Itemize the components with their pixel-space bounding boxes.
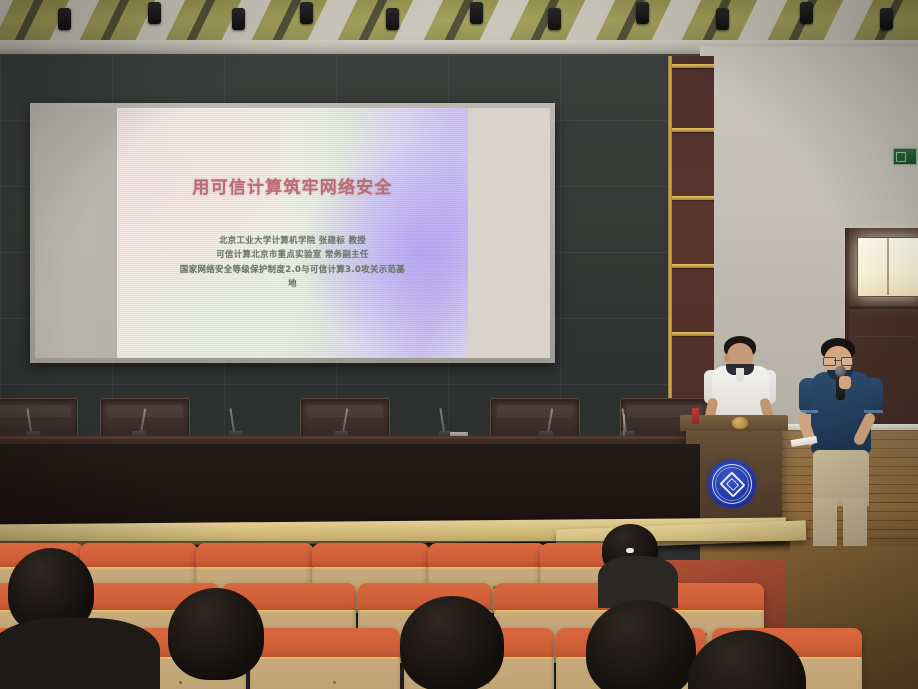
door-mullion bbox=[887, 237, 889, 295]
wall-seam bbox=[560, 54, 561, 454]
slide-subtitle-line: 北京工业大学计算机学院 张建标 教授 bbox=[131, 233, 453, 247]
seat-cushion bbox=[80, 543, 198, 567]
seat-cushion bbox=[196, 543, 314, 567]
wall-seam bbox=[0, 384, 700, 385]
ceiling-spotlight bbox=[548, 8, 561, 30]
audience-head bbox=[400, 596, 504, 689]
slide-subtitle-line: 可信计算北京市重点实验室 常务副主任 bbox=[131, 247, 453, 261]
screen-surface: 用可信计算筑牢网络安全 北京工业大学计算机学院 张建标 教授 可信计算北京市重点… bbox=[35, 108, 550, 358]
wall-seam bbox=[0, 54, 700, 55]
glasses-icon bbox=[823, 357, 853, 364]
hand bbox=[839, 376, 851, 389]
seat-rivet bbox=[333, 681, 336, 684]
audience-shoulders bbox=[0, 618, 160, 689]
seat-cushion bbox=[428, 543, 546, 567]
seat-cushion bbox=[312, 543, 430, 567]
ceiling-spotlight bbox=[232, 8, 245, 30]
projected-slide: 用可信计算筑牢网络安全 北京工业大学计算机学院 张建标 教授 可信计算北京市重点… bbox=[117, 108, 467, 358]
ceiling-spotlight bbox=[470, 2, 483, 24]
ceiling-spotlight bbox=[880, 8, 893, 30]
slide-subtitle-line: 地 bbox=[131, 276, 453, 290]
audience-head bbox=[168, 588, 264, 680]
pillar-gold-strip bbox=[672, 264, 714, 268]
hall-shadow-band bbox=[0, 444, 700, 524]
ceiling-spotlight bbox=[148, 2, 161, 24]
pillar-gold-strip bbox=[672, 128, 714, 132]
presenter-speaking bbox=[795, 338, 887, 576]
hair-tie bbox=[626, 548, 634, 553]
wall-seam bbox=[0, 54, 1, 454]
water-bottle bbox=[692, 408, 699, 424]
pillar-gold-strip bbox=[672, 196, 714, 200]
door-panel-line bbox=[855, 336, 915, 337]
shirt-placket bbox=[736, 368, 744, 382]
ceiling-spotlight bbox=[636, 2, 649, 24]
ceiling-spotlight bbox=[800, 2, 813, 24]
slide-subtitle-block: 北京工业大学计算机学院 张建标 教授 可信计算北京市重点实验室 常务副主任 国家… bbox=[131, 233, 453, 291]
university-crest-icon bbox=[708, 460, 756, 508]
lectern-knob bbox=[732, 417, 748, 429]
exit-sign-icon bbox=[893, 148, 917, 165]
audience-head bbox=[586, 600, 696, 689]
lecture-hall-photo: 用可信计算筑牢网络安全 北京工业大学计算机学院 张建标 教授 可信计算北京市重点… bbox=[0, 0, 918, 689]
projection-screen: 用可信计算筑牢网络安全 北京工业大学计算机学院 张建标 教授 可信计算北京市重点… bbox=[30, 103, 555, 363]
ceiling-spotlight bbox=[716, 8, 729, 30]
pillar-gold-strip bbox=[672, 64, 714, 68]
ceiling-spotlight bbox=[300, 2, 313, 24]
slide-title: 用可信计算筑牢网络安全 bbox=[117, 173, 467, 198]
seat-cushion bbox=[250, 628, 400, 657]
ear bbox=[724, 354, 729, 362]
ceiling-spotlight bbox=[386, 8, 399, 30]
stage-chair bbox=[490, 398, 580, 440]
slide-subtitle-line: 国家网络安全等级保护制度2.0与可信计算3.0攻关示范基 bbox=[131, 262, 453, 276]
seat-rivet bbox=[179, 681, 182, 684]
door-rail bbox=[849, 306, 918, 309]
auditorium-seat bbox=[250, 628, 400, 689]
ceiling-spotlight bbox=[58, 8, 71, 30]
